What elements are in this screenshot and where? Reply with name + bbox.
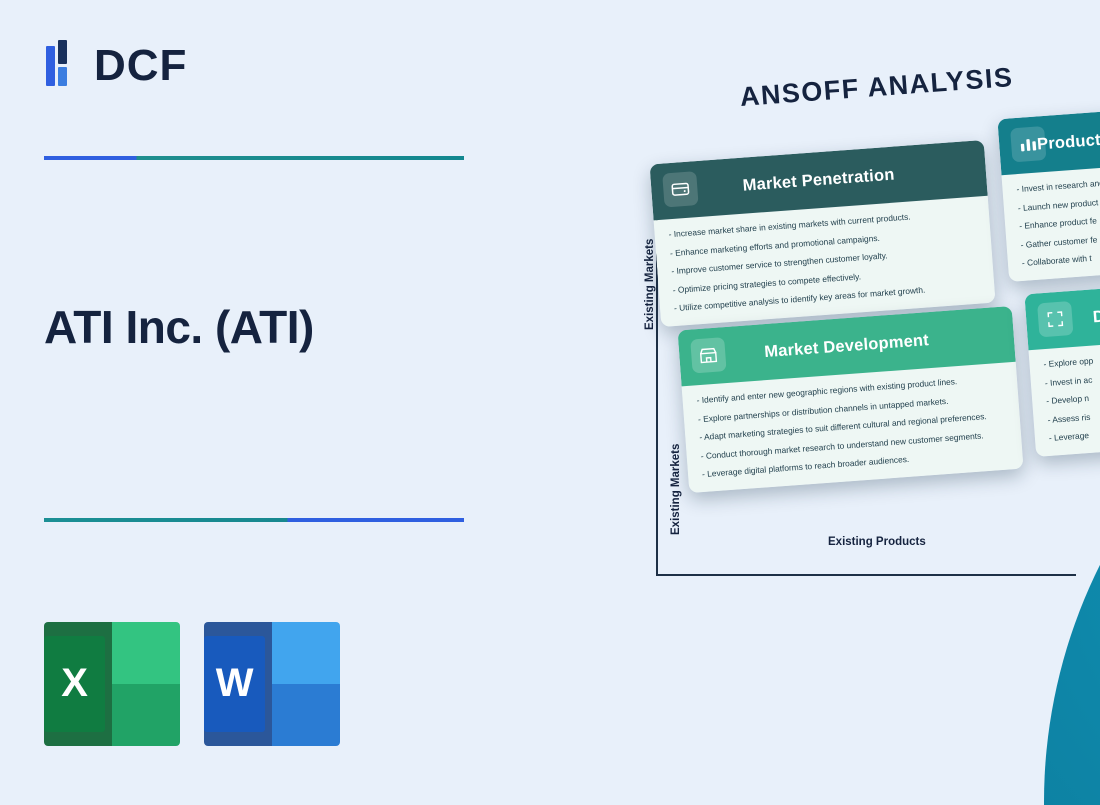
expand-icon	[1037, 301, 1073, 337]
brand-name: DCF	[94, 44, 187, 88]
quadrant-market-development[interactable]: Market Development - Identify and enter …	[677, 306, 1023, 493]
slide-canvas: DCF ATI Inc. (ATI) X W ANSOFF ANALYSIS E…	[0, 0, 1100, 805]
quadrant-market-penetration[interactable]: Market Penetration - Increase market sha…	[649, 140, 995, 327]
excel-file-icon[interactable]: X	[44, 622, 180, 746]
quadrant-body: - Explore opp - Invest in ac - Develop n…	[1028, 332, 1100, 457]
page-title: ATI Inc. (ATI)	[44, 300, 514, 354]
quadrant-title: Market Penetration	[742, 165, 895, 195]
divider-top	[44, 156, 464, 160]
x-axis-label: Existing Products	[828, 536, 926, 548]
word-file-icon[interactable]: W	[204, 622, 340, 746]
divider-bottom	[44, 518, 464, 522]
quadrant-diversification[interactable]: Diversification - Explore opp - Invest i…	[1024, 276, 1100, 456]
file-badges: X W	[44, 622, 340, 746]
quadrant-product-development[interactable]: Product Development - Invest in research…	[997, 101, 1100, 281]
quadrant-title: Diversification	[1092, 299, 1100, 326]
quadrant-body: - Invest in research and - Launch new pr…	[1001, 157, 1100, 282]
brand-logo[interactable]: DCF	[44, 40, 187, 92]
bar-chart-icon	[1010, 126, 1046, 162]
storefront-icon	[690, 337, 726, 373]
quadrant-title: Product Development	[1036, 122, 1100, 154]
y-axis-label-bottom: Existing Markets	[670, 444, 682, 535]
wallet-icon	[662, 171, 698, 207]
quadrant-title: Market Development	[764, 331, 930, 362]
y-axis-label-top: Existing Markets	[644, 239, 656, 330]
dcf-bars-logo-icon	[44, 40, 84, 92]
word-file-letter: W	[204, 636, 265, 733]
x-axis-line	[656, 574, 1076, 576]
excel-file-letter: X	[44, 636, 105, 733]
